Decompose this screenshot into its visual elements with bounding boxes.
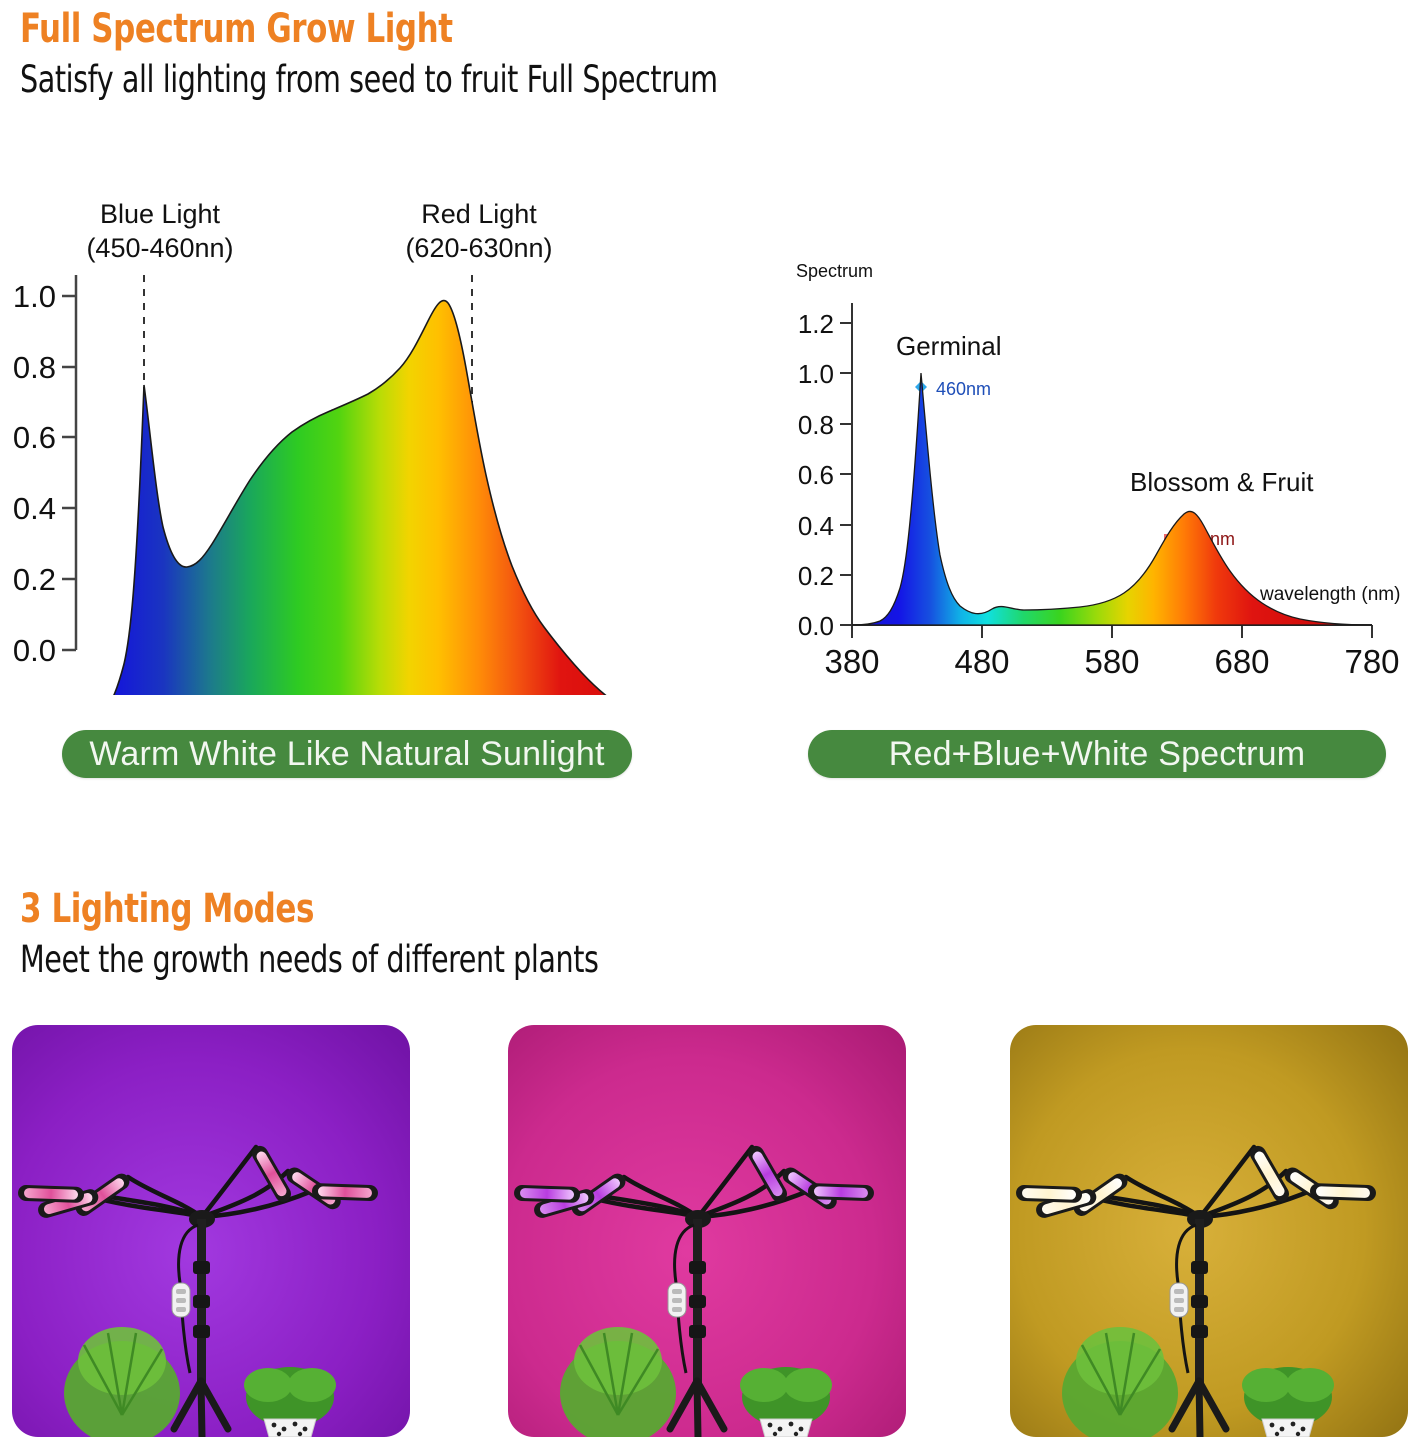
annotation-blossom-fruit-label: Blossom & Fruit	[1130, 467, 1314, 497]
section-title: 3 Lighting Modes	[20, 886, 599, 932]
y-axis-ticks	[840, 323, 852, 625]
section-subtitle: Meet the growth needs of different plant…	[20, 938, 599, 981]
svg-text:680: 680	[1214, 643, 1269, 680]
caption-pill-right: Red+Blue+White Spectrum	[808, 730, 1386, 778]
svg-text:1.0: 1.0	[13, 279, 56, 314]
spectral-curve-area	[76, 301, 660, 695]
remote-control	[1170, 1283, 1188, 1317]
lighting-mode-gallery	[0, 1025, 1414, 1439]
page-title: Full Spectrum Grow Light	[20, 6, 718, 52]
x-axis-title: wavelength (nm)	[1259, 584, 1400, 605]
lighting-mode-photo-pink[interactable]	[508, 1025, 906, 1437]
y-axis-ticks	[62, 296, 76, 650]
page-subtitle: Satisfy all lighting from seed to fruit …	[20, 58, 718, 101]
chart-svg-right: Spectrum Germinal 460nm Blossom & Fruit …	[780, 255, 1414, 695]
caption-pill-left: Warm White Like Natural Sunlight	[62, 730, 632, 778]
svg-text:0.8: 0.8	[798, 410, 834, 440]
svg-text:1.0: 1.0	[798, 359, 834, 389]
grow-light-illustration	[1010, 1025, 1408, 1437]
y-axis-title: Spectrum	[796, 261, 873, 281]
svg-text:580: 580	[1084, 643, 1139, 680]
chart-warm-white-spectrum: Blue Light (450-460nn) Red Light (620-63…	[0, 175, 700, 695]
svg-text:780: 780	[1344, 643, 1399, 680]
x-axis-tick-labels: 380 480 580 680 780	[824, 643, 1399, 680]
section-header-full-spectrum: Full Spectrum Grow Light Satisfy all lig…	[20, 6, 831, 101]
remote-control	[172, 1283, 190, 1317]
annotation-blue-light-range: (450-460nn)	[86, 233, 233, 263]
y-axis-tick-labels: 1.0 0.8 0.6 0.4 0.2 0.0	[13, 279, 56, 668]
svg-text:1.2: 1.2	[798, 309, 834, 339]
section-header-lighting-modes: 3 Lighting Modes Meet the growth needs o…	[20, 886, 693, 981]
lighting-mode-photo-warm-white[interactable]	[1010, 1025, 1408, 1437]
caption-pill-right-label: Red+Blue+White Spectrum	[889, 735, 1306, 774]
svg-text:0.4: 0.4	[798, 511, 834, 541]
svg-text:0.4: 0.4	[13, 491, 56, 526]
svg-text:0.2: 0.2	[798, 561, 834, 591]
lighting-mode-photo-purple[interactable]	[12, 1025, 410, 1437]
svg-text:0.0: 0.0	[798, 611, 834, 641]
y-axis-tick-labels: 1.2 1.0 0.8 0.6 0.4 0.2 0.0	[798, 309, 834, 641]
svg-text:380: 380	[824, 643, 879, 680]
grow-light-illustration	[508, 1025, 906, 1437]
annotation-red-light-label: Red Light	[421, 199, 537, 229]
chart-red-blue-white-spectrum: Spectrum Germinal 460nm Blossom & Fruit …	[780, 255, 1414, 695]
annotation-460nm: 460nm	[936, 379, 991, 399]
pole-clamps	[689, 1261, 706, 1338]
svg-text:0.8: 0.8	[13, 350, 56, 385]
pole-clamps	[1191, 1261, 1208, 1338]
x-axis-ticks	[852, 625, 1372, 638]
svg-text:0.6: 0.6	[13, 420, 56, 455]
svg-text:480: 480	[954, 643, 1009, 680]
annotation-red-light-range: (620-630nn)	[405, 233, 552, 263]
svg-text:0.0: 0.0	[13, 633, 56, 668]
grow-light-illustration	[12, 1025, 410, 1437]
annotation-blue-light-label: Blue Light	[100, 199, 221, 229]
pole-clamps	[193, 1261, 210, 1338]
svg-text:0.2: 0.2	[13, 562, 56, 597]
annotation-germinal-label: Germinal	[896, 331, 1001, 361]
chart-svg-left: Blue Light (450-460nn) Red Light (620-63…	[0, 175, 700, 695]
svg-text:0.6: 0.6	[798, 460, 834, 490]
caption-pill-left-label: Warm White Like Natural Sunlight	[89, 735, 604, 774]
remote-control	[668, 1283, 686, 1317]
